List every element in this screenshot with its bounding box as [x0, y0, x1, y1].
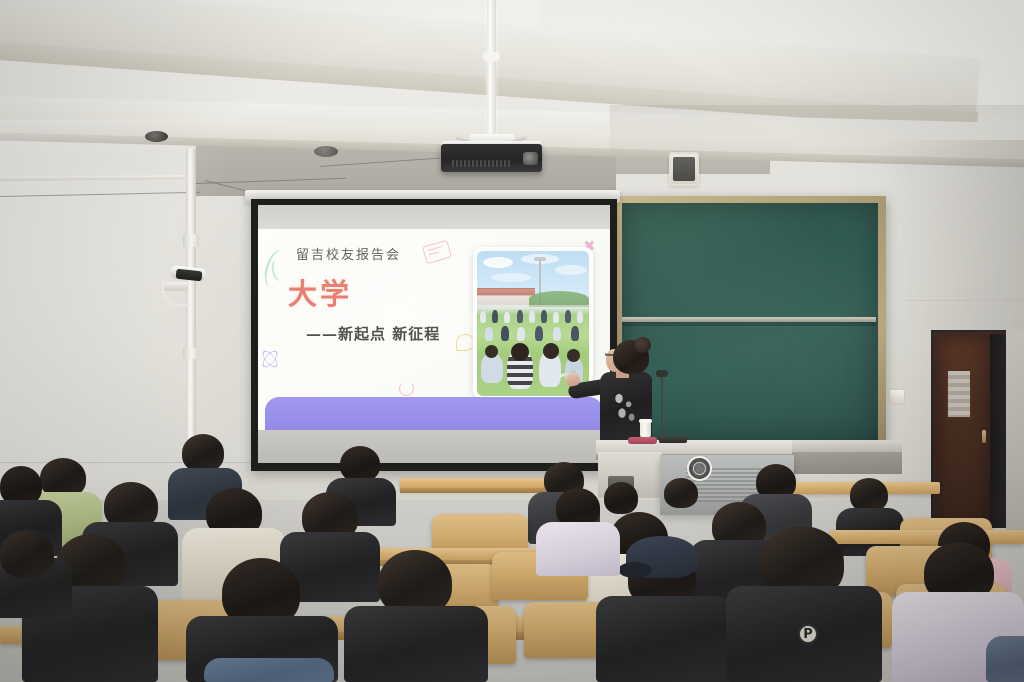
wall-seam-right: [900, 300, 1024, 301]
lecture-hall-photo: ✖ 留吉校友报告会 大学 ——新起点 新征程: [0, 0, 1024, 682]
smoke-detector-icon: [314, 146, 338, 157]
student-head: [340, 446, 380, 482]
student-lap: [204, 658, 334, 682]
p-logo-patch: P: [798, 624, 818, 644]
screen-top-band: [258, 205, 610, 229]
student-body: [536, 522, 620, 576]
student-body: [596, 596, 732, 682]
conduit-joint: [183, 234, 199, 247]
projector-mount-pole: [487, 0, 496, 140]
audience-seating: P: [0, 430, 1024, 682]
student-body: [344, 606, 488, 682]
student-head: [182, 434, 224, 472]
light-switch[interactable]: [889, 389, 905, 405]
mic-cable: [661, 375, 663, 437]
door-window-glass: [946, 369, 972, 419]
hoodie-graphic: [610, 390, 640, 424]
paper-cup-lid: [639, 419, 652, 423]
student-head: [664, 478, 698, 508]
cap-brim: [618, 562, 652, 578]
microphone-icon: [656, 370, 668, 377]
presenter-hair-bun: [634, 337, 651, 353]
desk: [830, 530, 1024, 544]
wall-speaker-grille: [673, 157, 695, 181]
slide-headline-text: 大学: [288, 271, 428, 313]
chalkboard-rail-shadow: [622, 322, 876, 326]
camera-bracket: [164, 282, 188, 291]
slide-bottom-band: [265, 397, 603, 430]
projector-pole-collar: [483, 52, 500, 61]
student-head: [0, 530, 54, 578]
projector-vent: [452, 160, 512, 167]
spiral-doodle-icon: [399, 381, 414, 396]
projector-lens: [523, 152, 538, 165]
student-body: [986, 636, 1024, 682]
conduit-joint: [183, 348, 199, 359]
projection-screen[interactable]: ✖ 留吉校友报告会 大学 ——新起点 新征程: [258, 205, 610, 463]
student-head: [850, 478, 888, 512]
slide-header-text: 留吉校友报告会: [296, 244, 476, 263]
projected-slide: ✖ 留吉校友报告会 大学 ——新起点 新征程: [258, 229, 610, 430]
student-head: [604, 482, 638, 514]
smoke-detector-icon: [145, 131, 168, 142]
